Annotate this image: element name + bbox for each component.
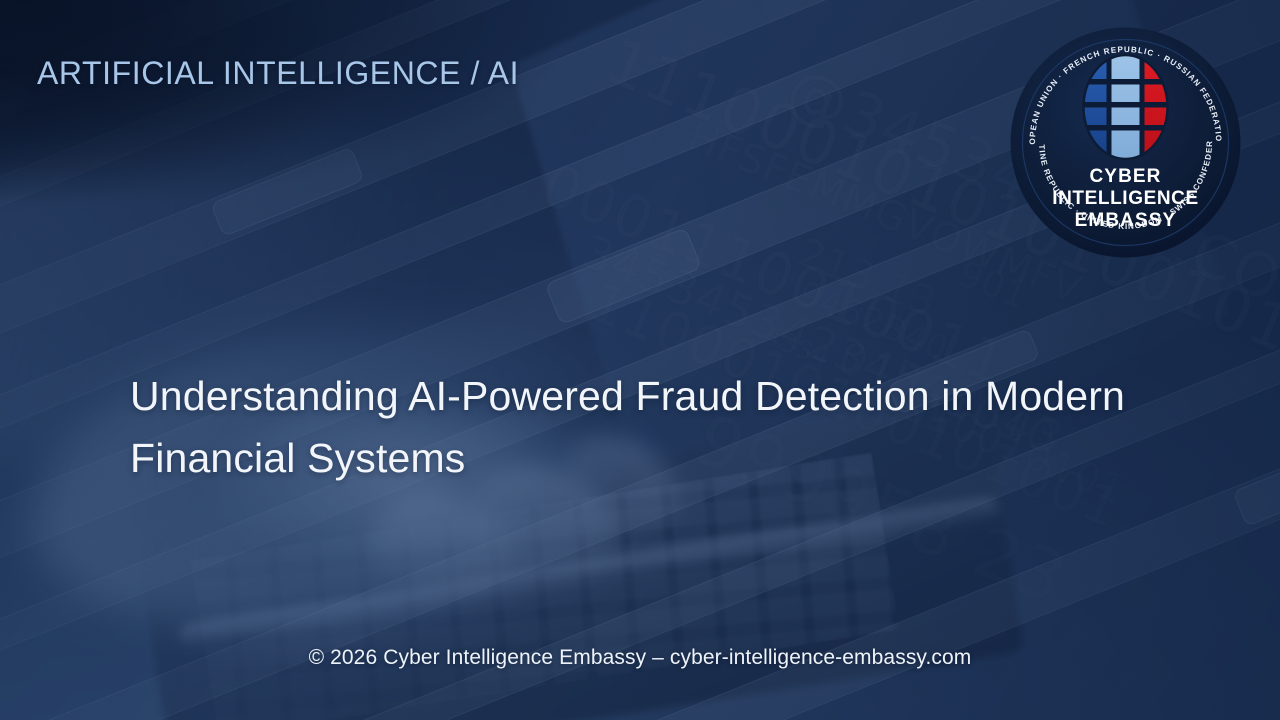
badge-wordmark-line2: INTELLIGENCE bbox=[1052, 188, 1199, 209]
badge-wordmark-line1: CYBER bbox=[1089, 166, 1161, 187]
footer-copyright: © 2026 Cyber Intelligence Embassy – cybe… bbox=[0, 646, 1280, 670]
logo-badge[interactable]: UNITED STATES OF AMERICA · EUROPEAN UNIO… bbox=[1010, 27, 1241, 258]
category-label: ARTIFICIAL INTELLIGENCE / AI bbox=[37, 55, 519, 92]
badge-wordmark-line3: EMBASSY bbox=[1075, 210, 1177, 231]
cyber-intelligence-embassy-logo: UNITED STATES OF AMERICA · EUROPEAN UNIO… bbox=[1010, 27, 1241, 258]
presentation-slide: 1110001010101001011@345345123.COHFSFEMMG… bbox=[0, 0, 1280, 720]
page-title: Understanding AI-Powered Fraud Detection… bbox=[130, 365, 1170, 489]
